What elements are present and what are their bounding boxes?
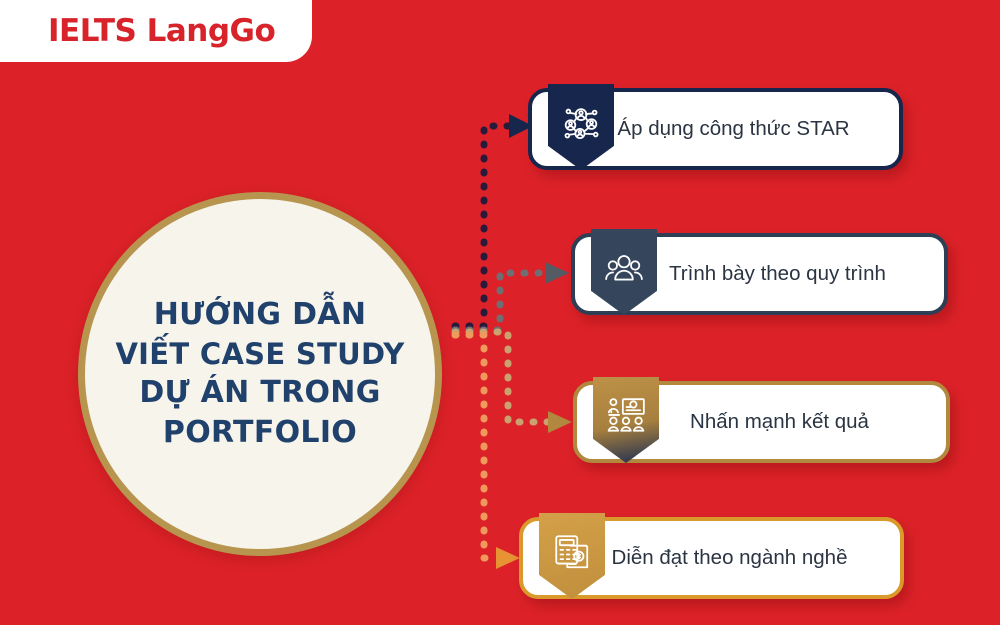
connector-to-card-1 xyxy=(455,114,533,326)
title-line-4: PORTFOLIO xyxy=(115,413,404,453)
card-apply-star-formula[interactable]: Áp dụng công thức STAR xyxy=(528,88,903,170)
page-title: HƯỚNG DẪN VIẾT CASE STUDY DỰ ÁN TRONG PO… xyxy=(99,295,420,452)
brand-logo: IELTS LangGo xyxy=(0,0,312,62)
title-line-2: VIẾT CASE STUDY xyxy=(115,335,404,373)
people-group-icon xyxy=(591,229,657,315)
center-title-circle: HƯỚNG DẪN VIẾT CASE STUDY DỰ ÁN TRONG PO… xyxy=(78,192,442,556)
presentation-training-icon xyxy=(593,377,659,463)
connector-to-card-2 xyxy=(455,262,569,330)
network-people-icon xyxy=(548,84,614,170)
card-industry-specific-wording[interactable]: Diễn đạt theo ngành nghề xyxy=(519,517,904,599)
connector-to-card-3 xyxy=(455,332,572,433)
connector-to-card-4 xyxy=(455,335,520,569)
card-emphasize-results[interactable]: Nhấn mạnh kết quả xyxy=(573,381,950,463)
card-present-by-process[interactable]: Trình bày theo quy trình xyxy=(571,233,948,315)
infographic-canvas: IELTS LangGo HƯỚNG DẪN VIẾT CASE STUDY D… xyxy=(0,0,1000,625)
title-line-1: HƯỚNG DẪN xyxy=(115,295,404,335)
title-line-3: DỰ ÁN TRONG xyxy=(115,373,404,413)
logo-text: IELTS LangGo xyxy=(48,13,275,49)
calculator-invoice-icon xyxy=(539,513,605,599)
